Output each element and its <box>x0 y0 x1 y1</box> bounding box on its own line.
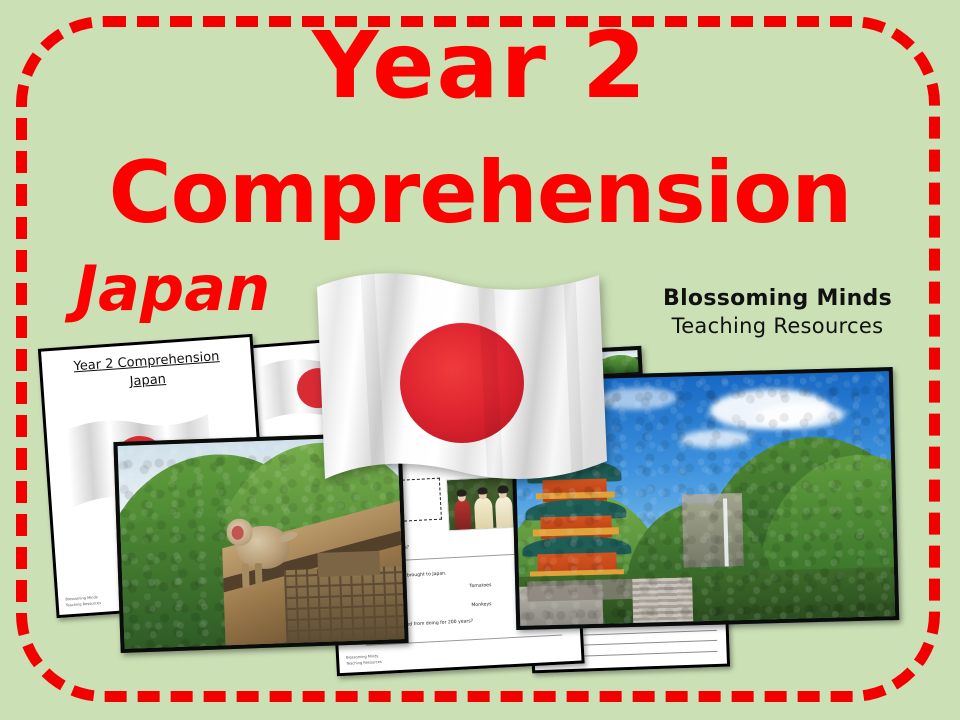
japan-flag-main <box>307 265 629 515</box>
brand-name: Blossoming Minds <box>663 285 892 313</box>
subject-label: Japan <box>75 258 270 320</box>
brand-tagline: Teaching Resources <box>663 313 892 339</box>
option-label-2: Monkeys <box>471 602 491 608</box>
brand-block: Blossoming Minds Teaching Resources <box>663 285 892 339</box>
history-sheet-footer-right <box>573 650 574 654</box>
poster-canvas: Geography: Geography: The country is isl… <box>0 0 960 720</box>
cover-sheet-footer: Blossoming Minds Teaching Resources <box>65 595 101 608</box>
title-line-2: Comprehension <box>0 150 960 236</box>
history-sheet-footer: Blossoming Minds Teaching Resources <box>346 654 382 667</box>
title-line-1: Year 2 <box>0 20 960 112</box>
option-label-1: Tomatoes <box>469 583 491 589</box>
